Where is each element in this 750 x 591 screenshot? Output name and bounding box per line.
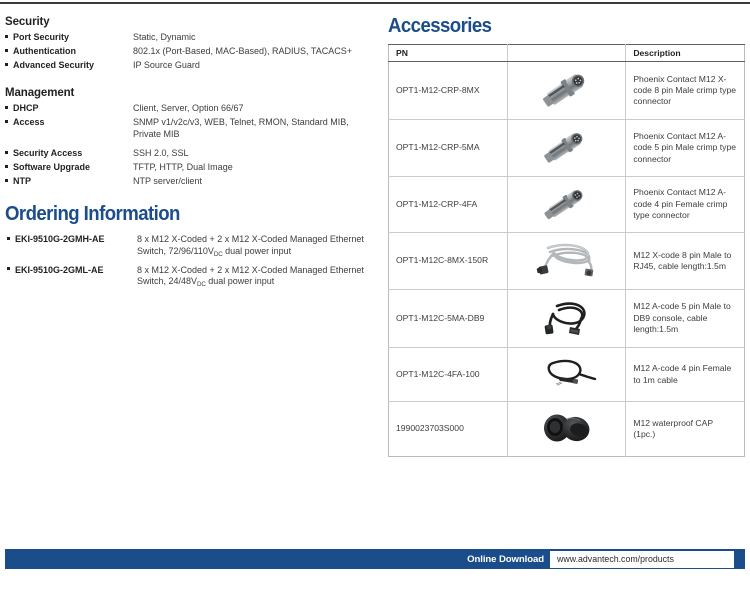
spec-label-text: Security Access — [13, 148, 82, 158]
accessory-description: Phoenix Contact M12 A-code 4 pin Female … — [626, 176, 745, 232]
datasheet-page: Security Port Security Static, Dynamic A… — [0, 0, 750, 591]
spec-value: TFTP, HTTP, Dual Image — [133, 162, 375, 176]
spec-value: SNMP v1/v2c/v3, WEB, Telnet, RMON, Stand… — [133, 117, 375, 143]
section-spacer — [5, 190, 375, 204]
ordering-row: EKI-9510G-2GMH-AE 8 x M12 X-Coded + 2 x … — [7, 234, 373, 262]
bullet-icon — [7, 237, 10, 240]
accessory-image-cell — [507, 402, 626, 456]
m12-to-db9-console-black-cable-photo — [535, 296, 597, 338]
bullet-icon — [5, 179, 8, 182]
spec-label: DHCP — [5, 103, 133, 117]
ordering-part-number-text: EKI-9510G-2GML-AE — [15, 265, 104, 275]
bullet-icon — [5, 106, 8, 109]
spec-label-text: Access — [13, 117, 45, 127]
ordering-part-number-text: EKI-9510G-2GMH-AE — [15, 234, 105, 244]
accessory-image-cell — [507, 120, 626, 176]
section-management: Management DHCP Client, Server, Option 6… — [5, 87, 375, 190]
accessory-pn: OPT1-M12-CRP-8MX — [389, 62, 508, 120]
m12-to-rj45-gray-cable-photo — [532, 239, 600, 279]
accessory-description: Phoenix Contact M12 A-code 5 pin Male cr… — [626, 120, 745, 176]
spec-label-text: Port Security — [13, 32, 69, 42]
spec-value: Static, Dynamic — [133, 32, 375, 46]
table-row: OPT1-M12-CRP-4FA — [389, 176, 745, 232]
spec-label: Software Upgrade — [5, 162, 133, 176]
spec-label: NTP — [5, 176, 133, 190]
column-header-description: Description — [626, 45, 745, 62]
spec-row: Software Upgrade TFTP, HTTP, Dual Image — [5, 162, 375, 176]
footer-url-field[interactable]: www.advantech.com/products — [550, 551, 734, 568]
ordering-description-post: dual power input — [206, 276, 275, 286]
spec-label-text: Advanced Security — [13, 60, 94, 70]
accessory-image-cell — [507, 233, 626, 289]
accessory-description: Phoenix Contact M12 X-code 8 pin Male cr… — [626, 62, 745, 120]
m12-female-open-end-black-cable-photo — [533, 354, 599, 392]
table-header-row: PN Description — [389, 45, 745, 62]
bullet-icon — [7, 267, 10, 270]
ordering-description-post: dual power input — [223, 246, 292, 256]
right-column: Accessories PN Description OPT1-M12-CRP-… — [388, 16, 745, 457]
spec-table-security: Port Security Static, Dynamic Authentica… — [5, 32, 375, 74]
section-ordering-information: Ordering Information EKI-9510G-2GMH-AE 8… — [5, 204, 375, 294]
accessory-pn: OPT1-M12C-5MA-DB9 — [389, 289, 508, 347]
bullet-icon — [5, 120, 8, 123]
ordering-part-number: EKI-9510G-2GMH-AE — [7, 234, 135, 262]
spec-row: Security Access SSH 2.0, SSL — [5, 148, 375, 162]
section-security: Security Port Security Static, Dynamic A… — [5, 16, 375, 74]
bullet-icon — [5, 49, 8, 52]
spec-label: Authentication — [5, 46, 133, 60]
section-heading-management: Management — [5, 87, 375, 99]
accessories-table-body: OPT1-M12-CRP-8MX — [389, 62, 745, 457]
ordering-description-sub: DC — [214, 251, 223, 258]
section-heading-accessories: Accessories — [388, 16, 720, 37]
accessory-pn: 1990023703S000 — [389, 402, 508, 456]
spec-row: DHCP Client, Server, Option 66/67 — [5, 103, 375, 117]
accessory-pn: OPT1-M12-CRP-4FA — [389, 176, 508, 232]
section-heading-ordering-information: Ordering Information — [5, 204, 349, 225]
table-row: OPT1-M12C-8MX-150R — [389, 233, 745, 289]
column-header-pn: PN — [389, 45, 508, 62]
ordering-description-sub: DC — [197, 281, 206, 288]
m12-a-code-4pin-female-connector-photo — [535, 183, 597, 223]
bullet-icon — [5, 165, 8, 168]
ordering-row: EKI-9510G-2GML-AE 8 x M12 X-Coded + 2 x … — [7, 265, 373, 293]
spec-table-management: DHCP Client, Server, Option 66/67 Access… — [5, 103, 375, 190]
spec-label-text: DHCP — [13, 103, 39, 113]
section-heading-security: Security — [5, 16, 375, 28]
accessory-image-cell — [507, 176, 626, 232]
ordering-description: 8 x M12 X-Coded + 2 x M12 X-Coded Manage… — [137, 234, 373, 262]
accessory-image-cell — [507, 348, 626, 402]
spec-label: Security Access — [5, 148, 133, 162]
ordering-description: 8 x M12 X-Coded + 2 x M12 X-Coded Manage… — [137, 265, 373, 293]
m12-a-code-5pin-male-connector-photo — [535, 126, 597, 166]
spec-label: Port Security — [5, 32, 133, 46]
table-row: 1990023703S000 — [389, 402, 745, 456]
footer-bar: Online Download www.advantech.com/produc… — [5, 549, 745, 569]
spec-row: Advanced Security IP Source Guard — [5, 60, 375, 74]
ordering-part-number: EKI-9510G-2GML-AE — [7, 265, 135, 293]
accessory-description: M12 X-code 8 pin Male to RJ45, cable len… — [626, 233, 745, 289]
m12-x-code-8pin-male-connector-photo — [535, 68, 597, 110]
spec-value: IP Source Guard — [133, 60, 375, 74]
accessory-description: M12 waterproof CAP (1pc.) — [626, 402, 745, 456]
accessory-image-cell — [507, 62, 626, 120]
spec-label-text: Software Upgrade — [13, 162, 90, 172]
accessory-description: M12 A-code 5 pin Male to DB9 console, ca… — [626, 289, 745, 347]
spec-value: NTP server/client — [133, 176, 375, 190]
spec-value: SSH 2.0, SSL — [133, 148, 375, 162]
accessory-pn: OPT1-M12C-4FA-100 — [389, 348, 508, 402]
footer-download-group: Online Download www.advantech.com/produc… — [467, 549, 734, 569]
bullet-icon — [5, 35, 8, 38]
spec-label-text: NTP — [13, 176, 31, 186]
spec-label: Access — [5, 117, 133, 143]
table-row: OPT1-M12-CRP-8MX — [389, 62, 745, 120]
spec-label: Advanced Security — [5, 60, 133, 74]
spec-row: Access SNMP v1/v2c/v3, WEB, Telnet, RMON… — [5, 117, 375, 143]
m12-waterproof-cap-black-photo — [535, 408, 597, 446]
ordering-table: EKI-9510G-2GMH-AE 8 x M12 X-Coded + 2 x … — [5, 232, 375, 294]
accessory-image-cell — [507, 289, 626, 347]
section-spacer — [5, 74, 375, 87]
column-header-image — [507, 45, 626, 62]
spec-value: Client, Server, Option 66/67 — [133, 103, 375, 117]
footer-online-download-label: Online Download — [467, 554, 550, 565]
spec-row: Authentication 802.1x (Port-Based, MAC-B… — [5, 46, 375, 60]
accessory-pn: OPT1-M12-CRP-5MA — [389, 120, 508, 176]
accessory-description: M12 A-code 4 pin Female to 1m cable — [626, 348, 745, 402]
table-row: OPT1-M12-CRP-5MA — [389, 120, 745, 176]
spec-value: 802.1x (Port-Based, MAC-Based), RADIUS, … — [133, 46, 375, 60]
bullet-icon — [5, 151, 8, 154]
accessories-table-head: PN Description — [389, 45, 745, 62]
spec-label-text: Authentication — [13, 46, 76, 56]
bullet-icon — [5, 63, 8, 66]
spec-row: Port Security Static, Dynamic — [5, 32, 375, 46]
spec-row: NTP NTP server/client — [5, 176, 375, 190]
accessory-pn: OPT1-M12C-8MX-150R — [389, 233, 508, 289]
table-row: OPT1-M12C-4FA-100 — [389, 348, 745, 402]
accessories-table: PN Description OPT1-M12-CRP-8MX — [388, 44, 745, 457]
table-row: OPT1-M12C-5MA-DB9 — [389, 289, 745, 347]
left-column: Security Port Security Static, Dynamic A… — [5, 16, 375, 295]
